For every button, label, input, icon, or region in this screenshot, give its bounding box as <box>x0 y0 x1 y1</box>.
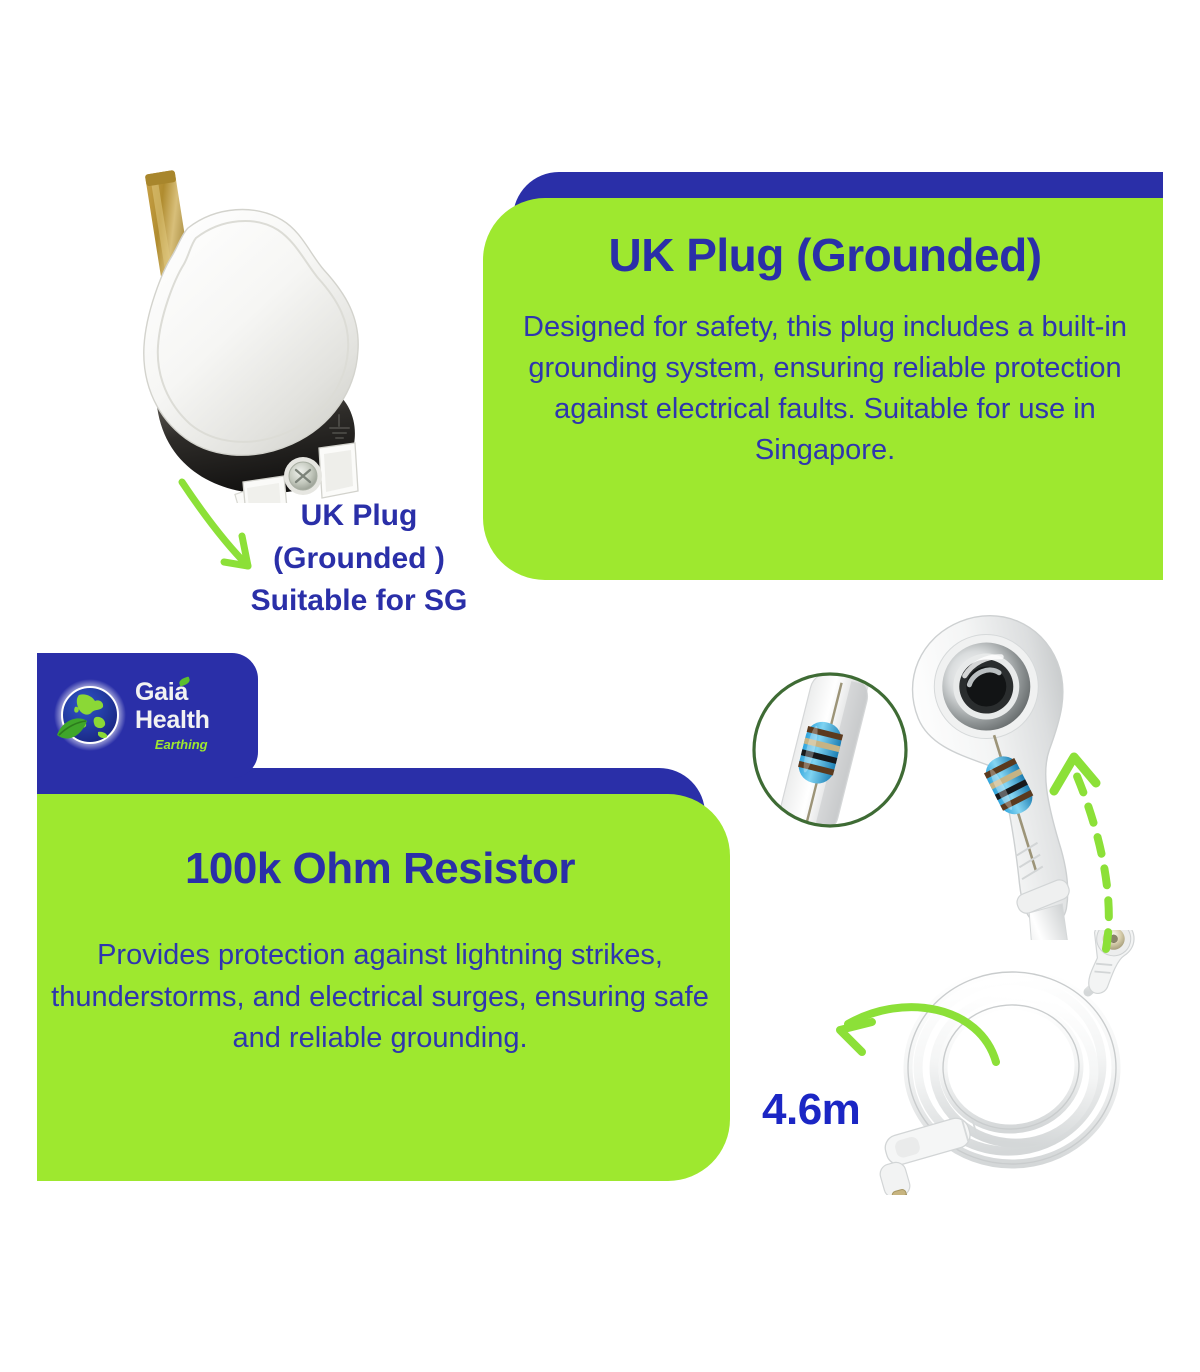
globe-icon <box>51 677 129 755</box>
uk-plug-photo: GROUNDED <box>96 158 386 503</box>
bottom-card-content: 100k Ohm Resistor Provides protection ag… <box>45 845 715 1059</box>
brand-tagline: Earthing <box>135 738 210 751</box>
globe-leaf-illustration <box>51 677 129 755</box>
plug-caption-line-1: UK Plug <box>228 495 490 538</box>
bottom-card-title: 100k Ohm Resistor <box>45 845 715 893</box>
top-card-content: UK Plug (Grounded) Designed for safety, … <box>500 230 1150 471</box>
top-card-title: UK Plug (Grounded) <box>500 230 1150 281</box>
cable-length-arrow-icon <box>818 990 1008 1080</box>
brand-wordmark: Gaia Health Earthing <box>135 680 210 751</box>
resistor-callout-illustration <box>748 668 913 833</box>
plug-caption-line-3: Suitable for SG <box>228 580 490 623</box>
resistor-zoom-callout <box>748 668 913 833</box>
bottom-card-body: Provides protection against lightning st… <box>45 935 715 1059</box>
plug-caption-line-2: (Grounded ) <box>228 538 490 581</box>
cable-length-label: 4.6m <box>762 1085 860 1135</box>
brand-name-line-1: Gaia <box>135 680 210 705</box>
brand-name-line-2: Health <box>135 708 210 733</box>
brand-logo-badge: Gaia Health Earthing <box>37 653 258 778</box>
top-card-body: Designed for safety, this plug includes … <box>500 307 1150 472</box>
infographic-canvas: GROUNDED UK Plug (Grounded ) Suitable fo… <box>0 0 1200 1372</box>
plug-caption: UK Plug (Grounded ) Suitable for SG <box>228 495 490 623</box>
resistor-pointer-dashed-arrow-icon <box>1040 735 1130 955</box>
uk-plug-illustration: GROUNDED <box>96 158 386 503</box>
